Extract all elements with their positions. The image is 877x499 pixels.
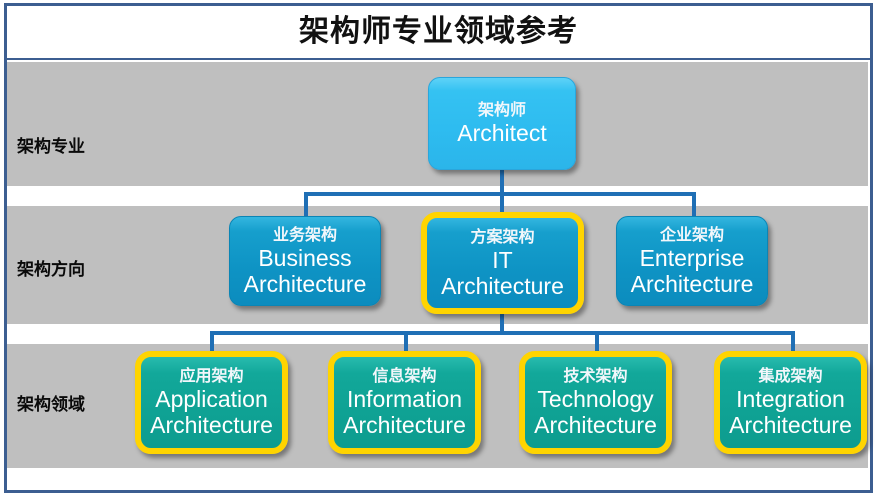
row-label-domain: 架构领域 bbox=[17, 390, 142, 415]
node-enterprise-architecture-en2: Architecture bbox=[631, 271, 754, 297]
diagram-frame: 架构师专业领域参考 架构专业 架构方向 架构领域 架构师 Architect 业… bbox=[4, 3, 873, 493]
page-title: 架构师专业领域参考 bbox=[7, 6, 870, 57]
node-integration-architecture-en1: Integration bbox=[736, 386, 845, 412]
node-it-architecture[interactable]: 方案架构 IT Architecture bbox=[421, 212, 584, 314]
node-architect-cn: 架构师 bbox=[478, 101, 526, 120]
node-application-architecture-cn: 应用架构 bbox=[179, 367, 243, 386]
connector-root-stem bbox=[500, 170, 504, 194]
node-it-architecture-en2: Architecture bbox=[441, 273, 564, 299]
node-information-architecture-en2: Architecture bbox=[343, 412, 466, 438]
node-enterprise-architecture-cn: 企业架构 bbox=[660, 226, 724, 245]
node-application-architecture-en1: Application bbox=[155, 386, 268, 412]
node-architect-en: Architect bbox=[457, 120, 546, 146]
node-application-architecture[interactable]: 应用架构 Application Architecture bbox=[135, 351, 288, 454]
node-information-architecture-en1: Information bbox=[347, 386, 462, 412]
row-label-direction: 架构方向 bbox=[17, 255, 142, 280]
node-integration-architecture[interactable]: 集成架构 Integration Architecture bbox=[714, 351, 867, 454]
node-enterprise-architecture[interactable]: 企业架构 Enterprise Architecture bbox=[616, 216, 768, 306]
node-business-architecture-en2: Architecture bbox=[244, 271, 367, 297]
node-enterprise-architecture-en1: Enterprise bbox=[640, 245, 745, 271]
node-business-architecture[interactable]: 业务架构 Business Architecture bbox=[229, 216, 381, 306]
node-technology-architecture-en2: Architecture bbox=[534, 412, 657, 438]
node-architect[interactable]: 架构师 Architect bbox=[428, 77, 576, 170]
node-business-architecture-cn: 业务架构 bbox=[273, 226, 337, 245]
node-information-architecture[interactable]: 信息架构 Information Architecture bbox=[328, 351, 481, 454]
title-divider bbox=[7, 58, 870, 60]
node-business-architecture-en1: Business bbox=[258, 245, 351, 271]
node-application-architecture-en2: Architecture bbox=[150, 412, 273, 438]
node-information-architecture-cn: 信息架构 bbox=[372, 367, 436, 386]
row-label-specialty: 架构专业 bbox=[17, 132, 142, 157]
node-technology-architecture-cn: 技术架构 bbox=[563, 367, 627, 386]
node-technology-architecture[interactable]: 技术架构 Technology Architecture bbox=[519, 351, 672, 454]
connector-to-business bbox=[304, 192, 308, 218]
connector-level3-bus bbox=[210, 331, 795, 335]
node-it-architecture-cn: 方案架构 bbox=[470, 228, 534, 247]
node-it-architecture-en1: IT bbox=[492, 247, 512, 273]
connector-to-enterprise bbox=[692, 192, 696, 218]
node-technology-architecture-en1: Technology bbox=[537, 386, 653, 412]
node-integration-architecture-cn: 集成架构 bbox=[758, 367, 822, 386]
node-integration-architecture-en2: Architecture bbox=[729, 412, 852, 438]
